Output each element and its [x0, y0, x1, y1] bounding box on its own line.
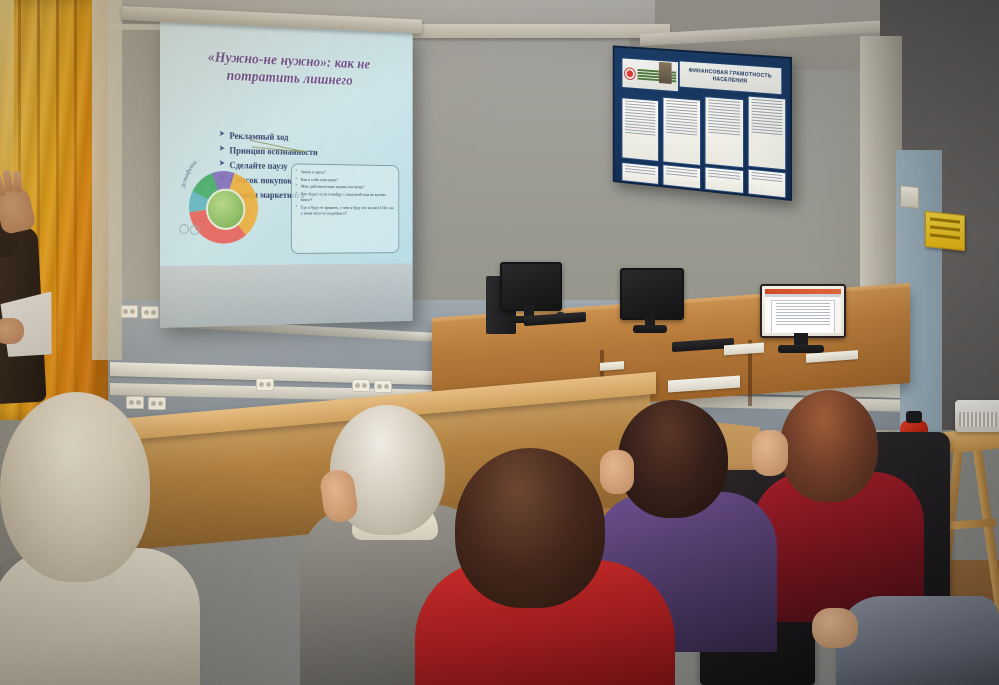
projector	[955, 400, 999, 432]
board-sheet	[622, 97, 659, 162]
projection-screen: «Нужно-не нужно»: как не потратить лишне…	[160, 18, 413, 328]
bubble-question: Где я буду её хранить, с чем я буду это …	[295, 204, 395, 217]
bubble-question: Что будет, если я выйду с покупкой или н…	[295, 191, 395, 204]
light-switch[interactable]	[900, 185, 919, 209]
attendee-hand	[752, 430, 788, 476]
wall-socket	[374, 380, 392, 393]
presenter-lower-hand	[0, 318, 24, 344]
board-sheet	[663, 164, 701, 189]
board-title: ФИНАНСОВАЯ ГРАМОТНОСТЬ НАСЕЛЕНИЯ	[679, 60, 782, 95]
document-page	[771, 300, 835, 333]
board-sheet	[748, 169, 786, 199]
monitor-panel	[500, 262, 562, 311]
attendee-head	[0, 392, 150, 582]
monitor-neck	[794, 333, 807, 346]
presentation-slide: «Нужно-не нужно»: как не потратить лишне…	[160, 18, 413, 266]
bubble-question: Как я себя чувствую?	[295, 176, 395, 184]
board-sheet	[705, 166, 744, 194]
monitor-right	[760, 284, 842, 354]
logo-text-path: Эстафета Мои финансы	[181, 160, 232, 189]
wall-socket	[352, 379, 370, 392]
logo-dots-icon	[179, 224, 202, 234]
monitor-center	[620, 268, 680, 334]
attendee-hand	[812, 608, 858, 648]
projector-vent-icon	[959, 412, 997, 427]
attendee-body	[836, 596, 999, 685]
desk-papers	[600, 361, 624, 371]
wall-socket	[148, 397, 166, 410]
monitor-panel	[760, 284, 846, 338]
attendee-head	[455, 448, 605, 608]
board-sheet	[622, 162, 659, 185]
attendee-head	[780, 390, 878, 502]
wall-socket	[120, 305, 138, 318]
monitor-neck	[645, 314, 655, 326]
slide-title: «Нужно-не нужно»: как не потратить лишне…	[179, 47, 395, 92]
svg-text:Эстафета Мои финансы: Эстафета Мои финансы	[181, 160, 232, 189]
bubble-question: Мне действительно нужна эта вещь?	[295, 184, 395, 191]
wall-socket	[256, 378, 274, 391]
board-sheet	[663, 97, 701, 166]
monitor-screen-content	[765, 289, 841, 333]
monitor-panel	[620, 268, 684, 320]
monitor-foot	[633, 325, 667, 333]
board-photo	[659, 62, 672, 84]
mouse[interactable]	[556, 312, 565, 318]
logo-curved-text: Эстафета Мои финансы	[181, 160, 267, 200]
app-toolbar	[765, 294, 841, 297]
slide-pointer-line	[250, 138, 310, 155]
emblem-icon	[624, 67, 636, 80]
info-board: ФИНАНСОВАЯ ГРАМОТНОСТЬ НАСЕЛЕНИЯ	[613, 45, 792, 201]
attendee-head	[618, 400, 728, 518]
screen-blank-area	[160, 263, 413, 328]
board-sheet	[705, 96, 744, 168]
photo-scene: «Нужно-не нужно»: как не потратить лишне…	[0, 0, 999, 685]
board-title-text: ФИНАНСОВАЯ ГРАМОТНОСТЬ НАСЕЛЕНИЯ	[680, 67, 782, 89]
wall-socket	[126, 396, 144, 409]
wall-socket	[141, 306, 159, 319]
attendee-hand	[600, 450, 634, 494]
board-sheet	[748, 96, 786, 171]
slide-question-bubble: Зачем я здесь? Как я себя чувствую? Мне …	[291, 163, 399, 254]
yellow-notice-sign	[925, 211, 965, 251]
sheer-curtain	[92, 0, 122, 360]
